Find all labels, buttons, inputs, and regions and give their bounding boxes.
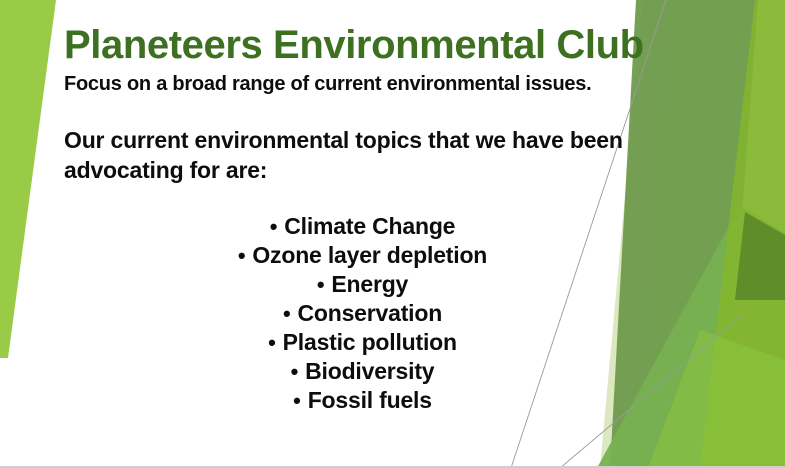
bullet-point-icon: • (268, 328, 276, 357)
list-item-label: Plastic pollution (283, 329, 457, 355)
list-item: •Conservation (64, 299, 661, 328)
slide-subtitle: Focus on a broad range of current enviro… (64, 72, 644, 96)
slide-title: Planeteers Environmental Club (64, 22, 644, 68)
list-item-label: Conservation (297, 300, 442, 326)
presentation-slide: Planeteers Environmental Club Focus on a… (0, 0, 785, 468)
bullet-point-icon: • (291, 357, 299, 386)
topics-bullet-list: •Climate Change•Ozone layer depletion•En… (64, 212, 661, 415)
bullet-point-icon: • (317, 270, 325, 299)
list-item: •Plastic pollution (64, 328, 661, 357)
slide-content: Planeteers Environmental Club Focus on a… (0, 0, 785, 468)
body-text-block: Our current environmental topics that we… (64, 125, 624, 185)
list-item: •Fossil fuels (64, 386, 661, 415)
list-item-label: Energy (331, 271, 408, 297)
bullet-point-icon: • (270, 212, 278, 241)
bullet-point-icon: • (283, 299, 291, 328)
list-item: •Ozone layer depletion (64, 241, 661, 270)
body-paragraph: Our current environmental topics that we… (64, 125, 624, 185)
bullet-point-icon: • (238, 241, 246, 270)
list-item-label: Fossil fuels (308, 387, 432, 413)
title-block: Planeteers Environmental Club Focus on a… (64, 22, 644, 96)
list-item-label: Climate Change (284, 213, 455, 239)
list-item: •Biodiversity (64, 357, 661, 386)
list-item-label: Ozone layer depletion (252, 242, 487, 268)
bullet-point-icon: • (293, 386, 301, 415)
topics-list-block: •Climate Change•Ozone layer depletion•En… (64, 212, 661, 415)
list-item: •Climate Change (64, 212, 661, 241)
list-item: •Energy (64, 270, 661, 299)
list-item-label: Biodiversity (305, 358, 434, 384)
